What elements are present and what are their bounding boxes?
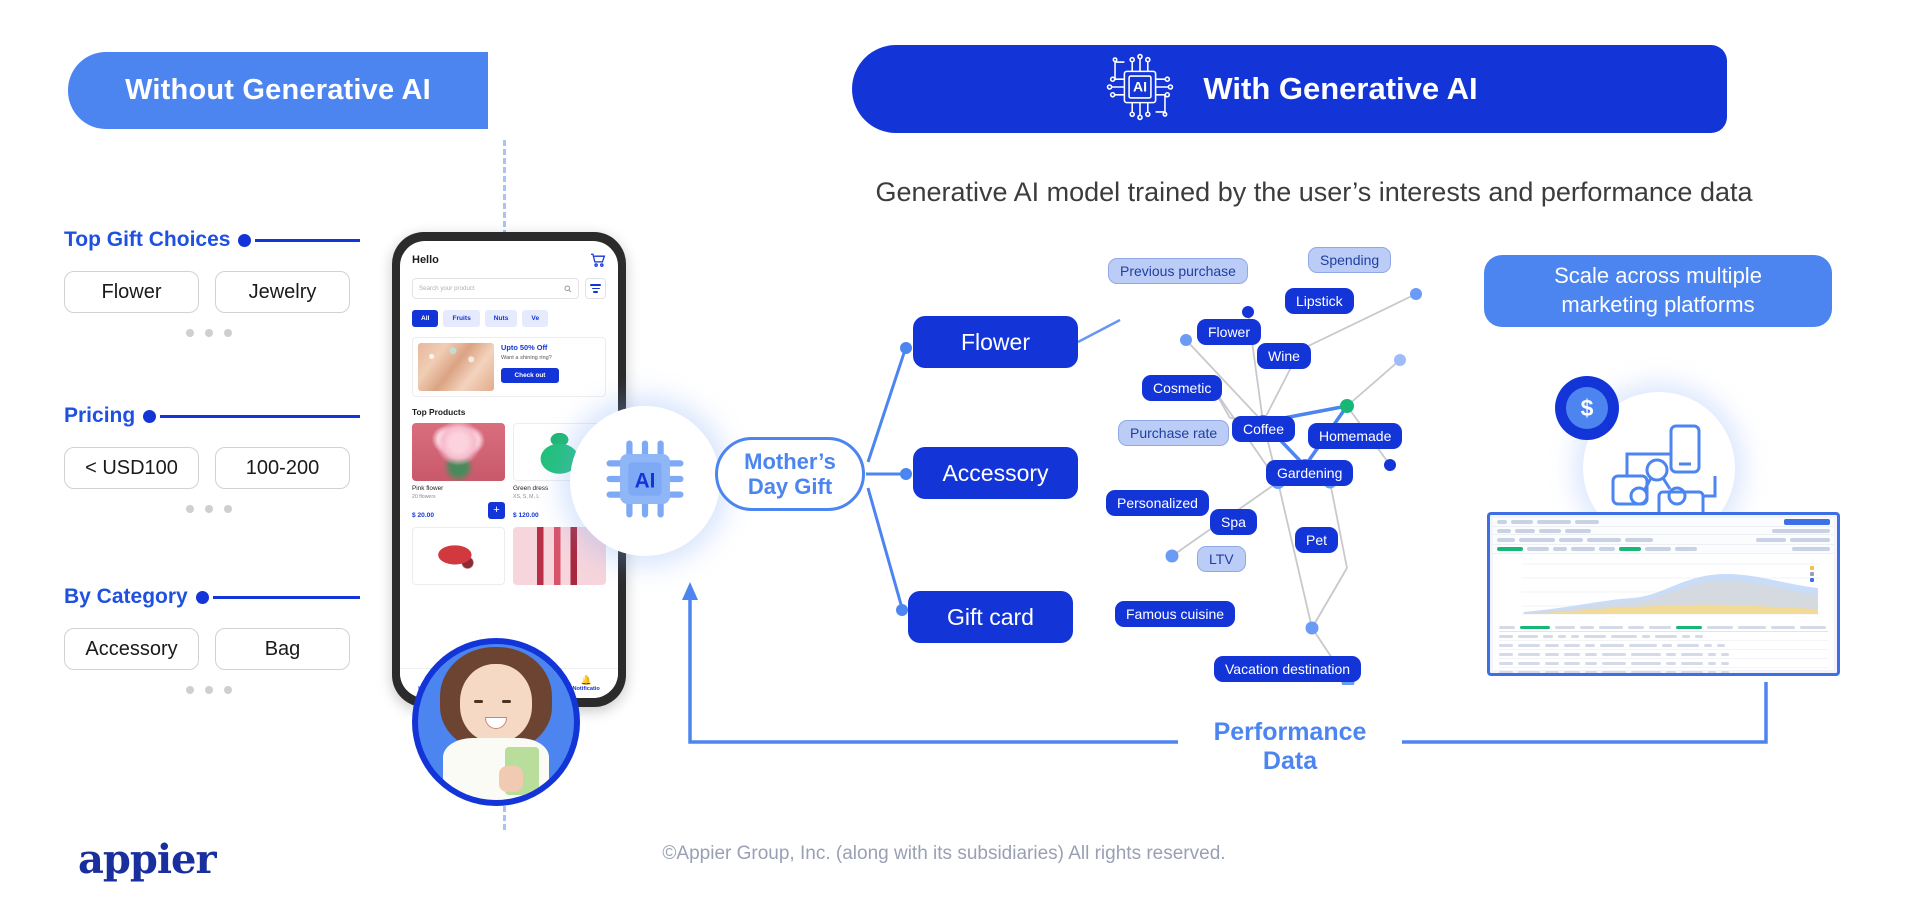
nav-item-notification[interactable]: 🔔Notificatio	[572, 675, 599, 692]
promo-banner[interactable]: Upto 50% Off Want a shining ring? Check …	[412, 337, 606, 397]
scale-line-2: marketing platforms	[1554, 291, 1762, 320]
prompt-line-2: Day Gift	[744, 474, 836, 499]
prompt-node-mothers-day-gift[interactable]: Mother’s Day Gift	[715, 437, 865, 511]
more-indicator	[64, 329, 354, 337]
tab-all[interactable]: All	[412, 310, 438, 327]
bell-icon: 🔔	[572, 675, 599, 686]
output-node-flower[interactable]: Flower	[913, 316, 1078, 368]
filter-group-title: Top Gift Choices	[64, 228, 230, 252]
dollar-symbol: $	[1566, 387, 1608, 429]
graph-node-homemade[interactable]: Homemade	[1308, 423, 1402, 449]
promo-subline: Want a shining ring?	[501, 355, 600, 361]
graph-node-spa[interactable]: Spa	[1210, 509, 1257, 535]
ai-chip-icon: AI	[593, 427, 697, 536]
tab-fruits[interactable]: Fruits	[443, 310, 479, 327]
add-to-cart-button[interactable]: +	[488, 502, 505, 519]
appier-logo: appier	[78, 836, 216, 883]
bullet-dot-icon	[238, 234, 251, 247]
filter-group-top-gift-choices: Top Gift Choices Flower Jewelry	[64, 228, 360, 337]
tab-ve[interactable]: Ve	[522, 310, 548, 327]
graph-node-previous-purchase[interactable]: Previous purchase	[1108, 258, 1248, 284]
shopping-cart-icon[interactable]	[590, 253, 606, 267]
performance-data-label: Performance Data	[1178, 718, 1402, 776]
banner-with-generative-ai: AI With Generative AI	[852, 45, 1727, 133]
analytics-dashboard-screenshot	[1487, 512, 1840, 676]
check-out-button[interactable]: Check out	[501, 368, 559, 383]
search-input[interactable]: Search your product	[412, 278, 579, 299]
banner-without-generative-ai-label: Without Generative AI	[125, 74, 431, 107]
banner-scale-across-platforms: Scale across multiple marketing platform…	[1484, 255, 1832, 327]
output-node-gift-card[interactable]: Gift card	[908, 591, 1073, 643]
product-price: $ 120.00	[513, 512, 539, 519]
more-indicator	[64, 686, 354, 694]
chart-legend	[1810, 566, 1814, 584]
product-variant: 20 flowers	[412, 494, 505, 500]
product-price: $ 20.00	[412, 512, 434, 519]
scale-line-1: Scale across multiple	[1554, 262, 1762, 291]
divider-line	[160, 415, 360, 418]
banner-without-generative-ai: Without Generative AI	[68, 52, 488, 129]
graph-dot	[1242, 306, 1254, 318]
product-card[interactable]	[513, 527, 606, 585]
graph-node-cosmetic[interactable]: Cosmetic	[1142, 375, 1222, 401]
ai-chip-circuit-icon: AI	[1101, 48, 1179, 131]
filter-chip-bag[interactable]: Bag	[215, 628, 350, 670]
filter-chip-jewelry[interactable]: Jewelry	[215, 271, 350, 313]
product-image	[412, 423, 505, 481]
graph-node-pet[interactable]: Pet	[1295, 527, 1338, 553]
product-image	[513, 527, 606, 585]
bullet-dot-icon	[196, 591, 209, 604]
graph-node-lipstick[interactable]: Lipstick	[1285, 288, 1354, 314]
graph-node-wine[interactable]: Wine	[1257, 343, 1311, 369]
filter-chip-100-200[interactable]: 100-200	[215, 447, 350, 489]
infographic-canvas: Without Generative AI AI With Generative…	[0, 0, 1920, 905]
graph-node-gardening[interactable]: Gardening	[1266, 460, 1353, 486]
svg-text:AI: AI	[1133, 78, 1147, 94]
performance-data-line-2: Data	[1184, 747, 1396, 776]
divider-line	[255, 239, 360, 242]
rings-photo	[418, 343, 494, 391]
graph-node-flower[interactable]: Flower	[1197, 319, 1261, 345]
ai-model-badge: AI	[570, 406, 720, 556]
generative-ai-subtitle: Generative AI model trained by the user’…	[814, 177, 1814, 208]
graph-node-famous-cuisine[interactable]: Famous cuisine	[1115, 601, 1235, 627]
graph-node-personalized[interactable]: Personalized	[1106, 490, 1209, 516]
app-greeting: Hello	[412, 254, 439, 266]
filter-group-pricing: Pricing < USD100 100-200	[64, 404, 360, 513]
output-node-accessory[interactable]: Accessory	[913, 447, 1078, 499]
interest-network-graph: Previous purchase Spending Lipstick Flow…	[1100, 270, 1480, 685]
filter-group-by-category: By Category Accessory Bag	[64, 585, 360, 694]
top-products-heading: Top Products	[412, 407, 606, 417]
graph-node-vacation-destination[interactable]: Vacation destination	[1214, 656, 1361, 682]
divider-line	[213, 596, 360, 599]
graph-node-purchase-rate[interactable]: Purchase rate	[1118, 420, 1229, 446]
graph-node-ltv[interactable]: LTV	[1197, 546, 1246, 572]
graph-node-spending[interactable]: Spending	[1308, 247, 1391, 273]
category-tabs: All Fruits Nuts Ve	[412, 310, 606, 327]
dollar-badge-icon: $	[1555, 376, 1619, 440]
user-portrait-avatar	[412, 638, 580, 806]
search-icon	[564, 280, 572, 298]
search-input-placeholder: Search your product	[419, 285, 560, 292]
filter-lines-icon[interactable]	[585, 278, 606, 299]
product-name: Pink flower	[412, 485, 505, 492]
more-indicator	[64, 505, 354, 513]
product-image	[412, 527, 505, 585]
banner-with-generative-ai-label: With Generative AI	[1203, 71, 1477, 107]
graph-node-coffee[interactable]: Coffee	[1232, 416, 1295, 442]
tab-nuts[interactable]: Nuts	[485, 310, 518, 327]
dashboard-area-chart	[1507, 558, 1820, 620]
product-card[interactable]	[412, 527, 505, 585]
filter-group-title: Pricing	[64, 404, 135, 428]
promo-headline: Upto 50% Off	[501, 343, 600, 352]
performance-data-line-1: Performance	[1184, 718, 1396, 747]
ai-chip-label: AI	[635, 469, 656, 492]
filter-chip-flower[interactable]: Flower	[64, 271, 199, 313]
filter-chip-accessory[interactable]: Accessory	[64, 628, 199, 670]
copyright-notice: ©Appier Group, Inc. (along with its subs…	[624, 843, 1264, 865]
dashboard-table	[1499, 623, 1828, 676]
filter-chip-under-usd100[interactable]: < USD100	[64, 447, 199, 489]
filter-group-title: By Category	[64, 585, 188, 609]
prompt-line-1: Mother’s	[744, 449, 836, 474]
product-card[interactable]: Pink flower 20 flowers $ 20.00 +	[412, 423, 505, 519]
bullet-dot-icon	[143, 410, 156, 423]
